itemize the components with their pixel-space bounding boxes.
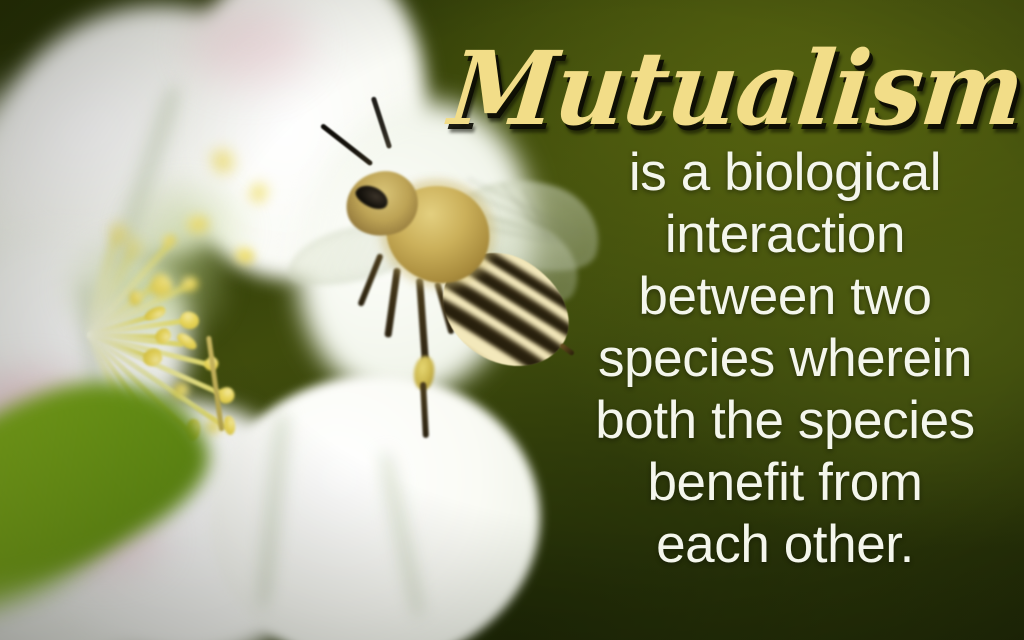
body-line: is a biological xyxy=(552,142,1018,204)
body-line: between two xyxy=(552,266,1018,328)
body-line: species wherein xyxy=(552,328,1018,390)
mutualism-infographic-poster: Mutualism is a biologicalinteractionbetw… xyxy=(0,0,1024,640)
body-line: interaction xyxy=(552,204,1018,266)
page-title: Mutualism xyxy=(445,38,1016,140)
body-line: both the species xyxy=(552,390,1018,452)
body-paragraph: is a biologicalinteractionbetween twospe… xyxy=(552,142,1018,576)
body-line: each other. xyxy=(552,514,1018,576)
body-line: benefit from xyxy=(552,452,1018,514)
